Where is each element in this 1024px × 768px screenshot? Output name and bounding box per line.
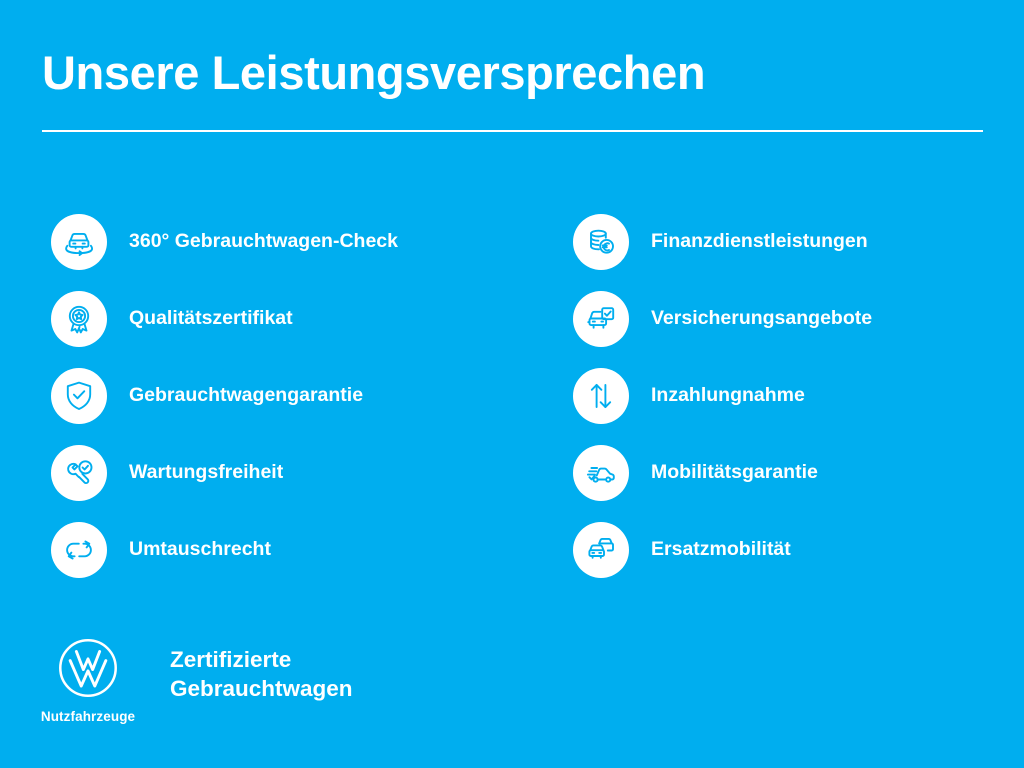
promise-item-mobility-guarantee: Mobilitätsgarantie <box>573 434 981 511</box>
promise-label: Gebrauchtwagengarantie <box>129 384 363 407</box>
up-down-arrows-icon <box>573 368 629 424</box>
award-rosette-icon <box>51 291 107 347</box>
exchange-arrows-icon <box>51 522 107 578</box>
promise-item-right-of-exchange: Umtauschrecht <box>51 511 573 588</box>
title-divider <box>42 130 983 132</box>
car-checklist-icon <box>573 291 629 347</box>
brand-claim: Zertifizierte Gebrauchtwagen <box>170 646 353 703</box>
promise-label: 360° Gebrauchtwagen-Check <box>129 230 398 253</box>
volkswagen-logo <box>57 637 119 699</box>
promise-item-replacement-mobility: Ersatzmobilität <box>573 511 981 588</box>
brand-claim-line-2: Gebrauchtwagen <box>170 675 353 704</box>
promise-label: Versicherungsangebote <box>651 307 872 330</box>
promise-item-insurance-offers: Versicherungsangebote <box>573 280 981 357</box>
shield-check-icon <box>51 368 107 424</box>
promise-label: Mobilitätsgarantie <box>651 461 818 484</box>
car-speed-check-icon <box>573 445 629 501</box>
promise-label: Wartungsfreiheit <box>129 461 283 484</box>
promise-item-financial-services: Finanzdienstleistungen <box>573 203 981 280</box>
promise-item-maintenance-free: Wartungsfreiheit <box>51 434 573 511</box>
vw-wordmark: Nutzfahrzeuge <box>41 709 135 724</box>
page-title: Unsere Leistungsversprechen <box>42 48 984 97</box>
promise-grid: 360° Gebrauchtwagen-Check Finanzdienstle… <box>51 203 981 588</box>
promise-label: Inzahlungnahme <box>651 384 805 407</box>
promise-label: Ersatzmobilität <box>651 538 791 561</box>
promise-label: Finanzdienstleistungen <box>651 230 868 253</box>
promise-item-quality-certificate: Qualitätszertifikat <box>51 280 573 357</box>
car-360-check-icon <box>51 214 107 270</box>
coins-euro-icon <box>573 214 629 270</box>
promise-label: Umtauschrecht <box>129 538 271 561</box>
promise-item-360-check: 360° Gebrauchtwagen-Check <box>51 203 573 280</box>
slide-canvas: Unsere Leistungsversprechen 360° Gebrauc… <box>0 0 1024 768</box>
header: Unsere Leistungsversprechen <box>42 48 984 132</box>
brand-lockup: Nutzfahrzeuge Zertifizierte Gebrauchtwag… <box>36 637 353 724</box>
wrench-check-icon <box>51 445 107 501</box>
vw-logo-block: Nutzfahrzeuge <box>36 637 140 724</box>
promise-item-trade-in: Inzahlungnahme <box>573 357 981 434</box>
promise-label: Qualitätszertifikat <box>129 307 293 330</box>
promise-item-used-car-warranty: Gebrauchtwagengarantie <box>51 357 573 434</box>
brand-claim-line-1: Zertifizierte <box>170 646 353 675</box>
two-cars-icon <box>573 522 629 578</box>
